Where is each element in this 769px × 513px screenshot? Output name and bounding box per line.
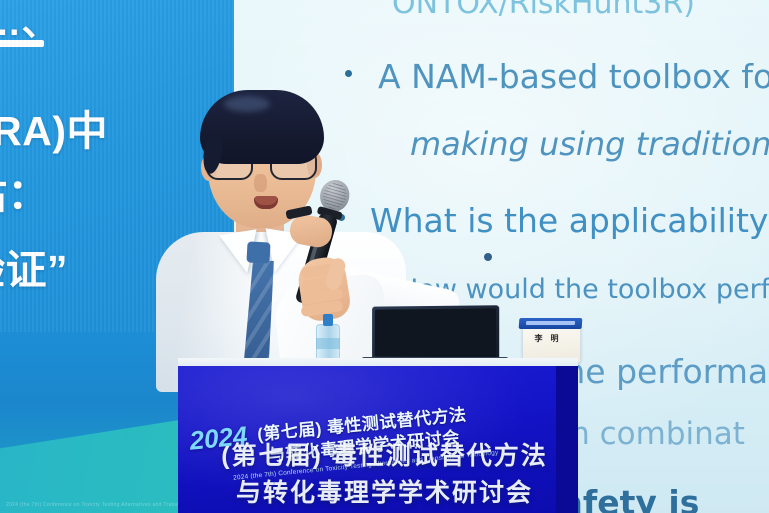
left-slide-line-0: …、 xyxy=(0,0,59,46)
slide-bullet-1-line-2: making using traditional i xyxy=(410,125,769,163)
slide-heading: ONTOX/RiskHunt3R) xyxy=(392,0,695,21)
slide-bullet-2: What is the applicability d xyxy=(370,201,769,240)
slide-bullet-1-line-1: A NAM-based toolbox for xyxy=(378,57,769,96)
nameplate-char-2: 明 xyxy=(550,334,559,343)
bottle-label xyxy=(316,338,340,349)
necktie-knot xyxy=(246,241,270,263)
left-slide-line-3: 验证” xyxy=(0,236,68,296)
laptop-bezel xyxy=(375,308,496,357)
hair-highlight xyxy=(224,96,270,112)
laptop-screen xyxy=(372,305,499,360)
bottle-cap xyxy=(323,314,333,326)
nose xyxy=(254,174,267,192)
podium-banner-year: 2024 xyxy=(188,421,248,455)
nameplate-blue-bar xyxy=(519,318,583,329)
left-slide-line-2: 估： xyxy=(0,160,49,220)
water-bottle xyxy=(316,314,340,362)
tent-nameplate: 李 明 xyxy=(516,318,584,362)
podium-right-edge xyxy=(556,366,578,513)
slide-dot-decoration xyxy=(484,253,492,261)
left-slide-line-1: (RA)中 xyxy=(0,97,108,157)
mouth xyxy=(254,196,278,209)
left-slide-rule xyxy=(0,40,44,47)
slide-bullet-marker-1 xyxy=(345,70,352,77)
nameplate-char-1: 李 xyxy=(534,334,543,343)
nameplate-face xyxy=(523,324,580,363)
photo-scene: ONTOX/RiskHunt3R) A NAM-based toolbox fo… xyxy=(0,0,769,513)
